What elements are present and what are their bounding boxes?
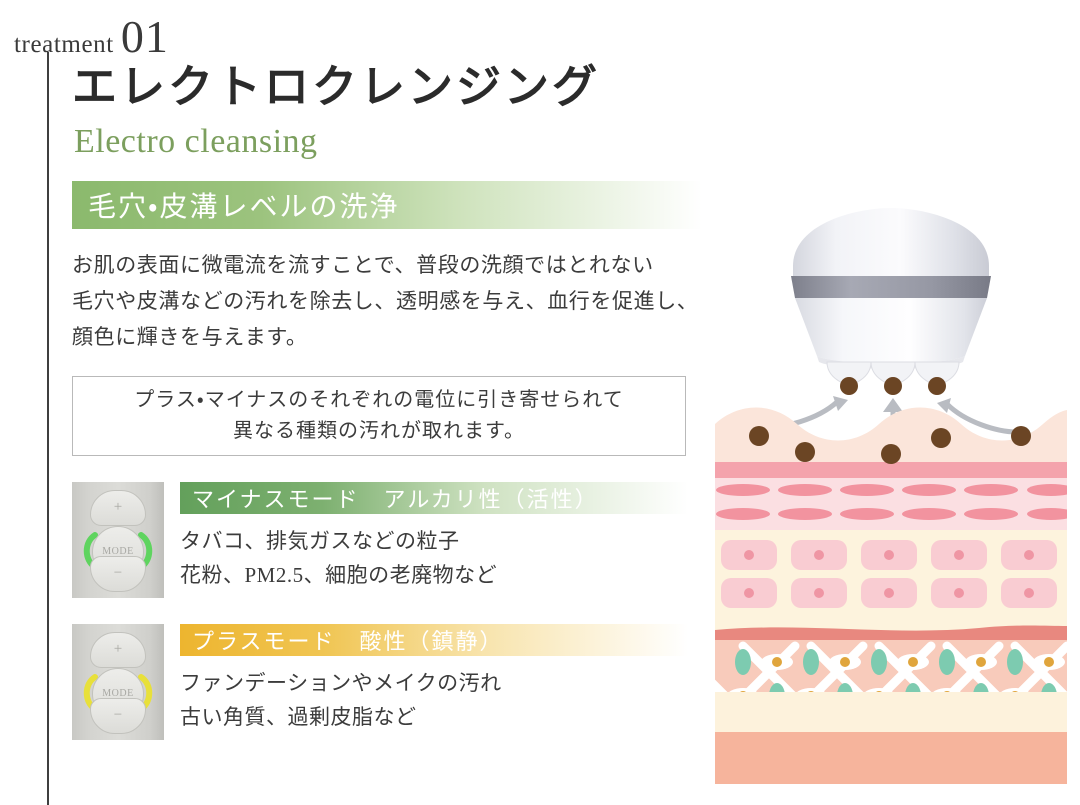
remote-device-plus: + MODE − [72, 624, 164, 740]
description-paragraph: お肌の表面に微電流を流すことで、普段の洗顔ではとれない 毛穴や皮溝などの汚れを除… [72, 247, 702, 355]
mode-banner-label-minus: マイナスモード アルカリ性（活性） [180, 482, 599, 514]
mode-plus-line-1: ファンデーションやメイクの汚れ [180, 666, 688, 700]
description-line-1: お肌の表面に微電流を流すことで、普段の洗顔ではとれない [72, 247, 702, 283]
mode-minus-line-1: タバコ、排気ガスなどの粒子 [180, 524, 688, 558]
page-title-en: Electro cleansing [74, 122, 702, 163]
mode-plus-line-2: 古い角質、過剰皮脂など [180, 700, 688, 734]
mode-text-minus: マイナスモード アルカリ性（活性） タバコ、排気ガスなどの粒子 花粉、PM2.5… [180, 482, 688, 592]
mode-minus-line-2: 花粉、PM2.5、細胞の老廃物など [180, 558, 688, 592]
mode-block-plus: + MODE − プラスモード 酸性（鎮静） ファンデーションやメイクの汚れ 古… [72, 624, 702, 740]
mode-block-minus: + MODE − マイナスモード アルカリ性（活性） タバコ、排気ガスなどの粒子… [72, 482, 702, 598]
mode-lines-plus: ファンデーションやメイクの汚れ 古い角質、過剰皮脂など [180, 666, 688, 734]
section-banner-label: 毛穴・皮溝レベルの洗浄 [72, 185, 400, 225]
minus-button[interactable]: − [90, 698, 146, 734]
plus-button[interactable]: + [90, 490, 146, 526]
mode-banner-minus: マイナスモード アルカリ性（活性） [180, 482, 688, 514]
plus-button[interactable]: + [90, 632, 146, 668]
description-line-3: 顔色に輝きを与えます。 [72, 319, 702, 355]
treatment-page: treatment 01 エレクトロクレンジング Electro cleansi… [0, 0, 1080, 805]
section-banner: 毛穴・皮溝レベルの洗浄 [72, 181, 702, 229]
vertical-divider [47, 52, 49, 805]
mode-lines-minus: タバコ、排気ガスなどの粒子 花粉、PM2.5、細胞の老廃物など [180, 524, 688, 592]
treatment-word: treatment [14, 31, 114, 59]
treatment-label: treatment 01 [14, 14, 169, 60]
treatment-number: 01 [121, 14, 169, 60]
minus-button[interactable]: − [90, 556, 146, 592]
mode-banner-label-plus: プラスモード 酸性（鎮静） [180, 624, 504, 656]
description-line-2: 毛穴や皮溝などの汚れを除去し、透明感を与え、血行を促進し、 [72, 283, 702, 319]
note-box: プラス・マイナスのそれぞれの電位に引き寄せられて 異なる種類の汚れが取れます。 [72, 376, 686, 456]
page-title-jp: エレクトロクレンジング [72, 62, 702, 112]
note-line-1: プラス・マイナスのそれぞれの電位に引き寄せられて [134, 385, 623, 416]
note-line-2: 異なる種類の汚れが取れます。 [233, 416, 525, 447]
skin-illustration [715, 206, 1067, 784]
remote-device-minus: + MODE − [72, 482, 164, 598]
mode-banner-plus: プラスモード 酸性（鎮静） [180, 624, 688, 656]
mode-text-plus: プラスモード 酸性（鎮静） ファンデーションやメイクの汚れ 古い角質、過剰皮脂な… [180, 624, 688, 734]
content-column: エレクトロクレンジング Electro cleansing 毛穴・皮溝レベルの洗… [72, 62, 702, 740]
